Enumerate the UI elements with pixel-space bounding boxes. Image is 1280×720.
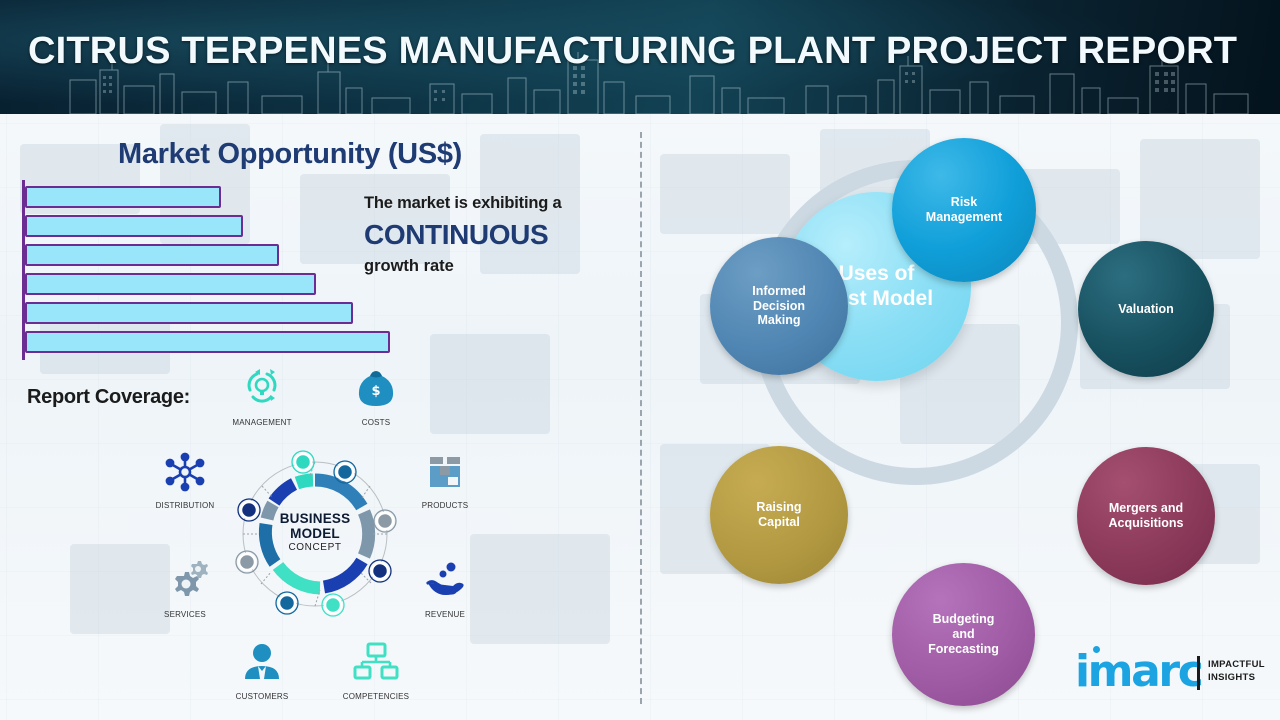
panel-divider	[640, 132, 642, 704]
coverage-item-costs: $ COSTS	[330, 368, 422, 427]
coverage-item-products: PRODUCTS	[399, 451, 491, 510]
node-mergers-and-acquisitions[interactable]: Mergers and Acquisitions	[1077, 447, 1215, 585]
package-box-icon	[422, 451, 468, 493]
imarc-logo: imarc IMPACTFUL INSIGHTS	[1075, 646, 1270, 702]
node-mergers-line1: Mergers and	[1102, 501, 1189, 516]
node-risk-line2: Management	[920, 210, 1008, 225]
coverage-item-competencies: COMPETENCIES	[330, 642, 422, 701]
coverage-label-management: MANAGEMENT	[216, 418, 308, 427]
report-coverage-diagram: BUSINESS MODEL CONCEPT MANAGEMENT	[86, 369, 546, 714]
bar-row	[25, 302, 353, 324]
bar-row	[25, 186, 221, 208]
node-raising-line1: Raising	[750, 500, 807, 515]
user-person-icon	[239, 642, 285, 684]
page-title: CITRUS TERPENES MANUFACTURING PLANT PROJ…	[28, 30, 1237, 73]
logo-wordmark: imarc	[1075, 650, 1201, 694]
coverage-item-revenue: REVENUE	[399, 560, 491, 619]
node-budget-line2: and	[922, 627, 1005, 642]
distribution-hub-icon	[162, 451, 208, 493]
bar-row	[25, 273, 316, 295]
node-budgeting-and-forecasting[interactable]: Budgeting and Forecasting	[892, 563, 1035, 706]
logo-tagline-line2: INSIGHTS	[1208, 672, 1255, 683]
coverage-label-revenue: REVENUE	[399, 610, 491, 619]
growth-statement-emphasis: CONTINUOUS	[364, 219, 634, 251]
bar-row	[25, 244, 279, 266]
growth-statement-line1: The market is exhibiting a	[364, 194, 634, 213]
logo-separator	[1197, 656, 1200, 690]
node-informed-line2: Decision	[746, 299, 811, 314]
growth-statement: The market is exhibiting a CONTINUOUS gr…	[364, 194, 634, 276]
slide-body: Market Opportunity (US$) The market is e…	[0, 114, 1280, 720]
node-mergers-line2: Acquisitions	[1102, 516, 1189, 531]
recycle-bulb-icon	[239, 368, 285, 410]
money-bag-icon: $	[353, 368, 399, 410]
node-risk-management[interactable]: Risk Management	[892, 138, 1036, 282]
node-budget-line1: Budgeting	[922, 612, 1005, 627]
logo-tagline-line1: IMPACTFUL	[1208, 659, 1265, 670]
coverage-label-competencies: COMPETENCIES	[330, 692, 422, 701]
coverage-label-services: SERVICES	[139, 610, 231, 619]
business-model-wheel-graphic	[225, 444, 405, 624]
coverage-item-distribution: DISTRIBUTION	[139, 451, 231, 510]
node-informed-line3: Making	[746, 313, 811, 328]
coverage-item-services: SERVICES	[139, 560, 231, 619]
right-panel: Uses of Cost Model Risk Management Valua…	[640, 114, 1280, 720]
market-opportunity-title: Market Opportunity (US$)	[118, 138, 462, 171]
node-valuation[interactable]: Valuation	[1078, 241, 1214, 377]
svg-text:$: $	[371, 384, 380, 399]
network-nodes-icon	[353, 642, 399, 684]
node-risk-line1: Risk	[920, 195, 1008, 210]
node-valuation-line1: Valuation	[1112, 302, 1180, 317]
coverage-item-management: MANAGEMENT	[216, 368, 308, 427]
bar-row	[25, 331, 390, 353]
node-informed-decision-making[interactable]: Informed Decision Making	[710, 237, 848, 375]
node-budget-line3: Forecasting	[922, 642, 1005, 657]
growth-statement-line3: growth rate	[364, 257, 634, 276]
left-panel: Market Opportunity (US$) The market is e…	[0, 114, 640, 720]
coverage-label-products: PRODUCTS	[399, 501, 491, 510]
coverage-label-customers: CUSTOMERS	[216, 692, 308, 701]
coverage-label-distribution: DISTRIBUTION	[139, 501, 231, 510]
node-raising-capital[interactable]: Raising Capital	[710, 446, 848, 584]
header-banner: CITRUS TERPENES MANUFACTURING PLANT PROJ…	[0, 0, 1280, 114]
coverage-label-costs: COSTS	[330, 418, 422, 427]
coverage-item-customers: CUSTOMERS	[216, 642, 308, 701]
node-informed-line1: Informed	[746, 284, 811, 299]
hand-coins-icon	[422, 560, 468, 602]
bar-row	[25, 215, 243, 237]
market-opportunity-bar-chart	[22, 180, 402, 360]
gears-icon	[162, 560, 208, 602]
node-raising-line2: Capital	[750, 515, 807, 530]
